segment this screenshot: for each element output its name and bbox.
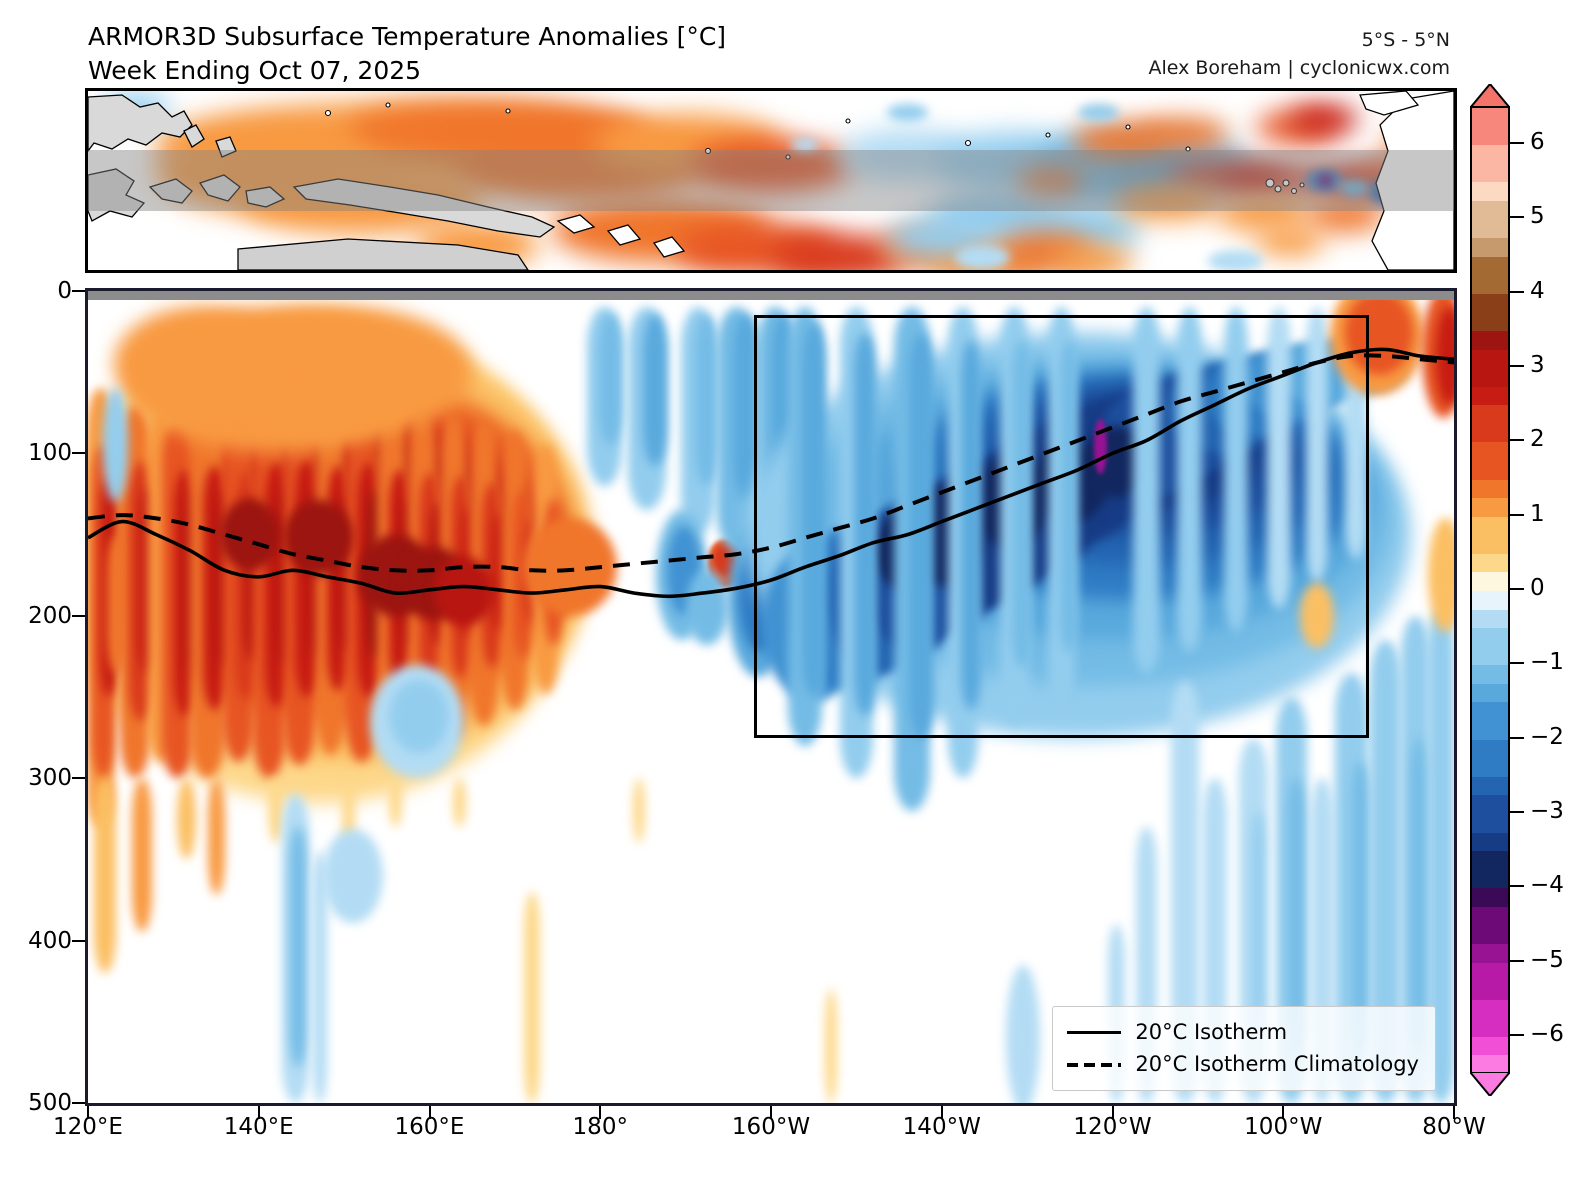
colorbar-segment (1472, 405, 1508, 424)
colorbar-segment (1472, 108, 1508, 127)
author-credit: Alex Boreham | cyclonicwx.com (1148, 54, 1450, 82)
colorbar-tick (1510, 142, 1524, 144)
colorbar-segment (1472, 851, 1508, 870)
colorbar-segment (1472, 870, 1508, 889)
colorbar-segment (1472, 331, 1508, 350)
legend-item: 20°C Isotherm (1067, 1016, 1419, 1048)
colorbar-tick (1510, 811, 1524, 813)
colorbar-tick-label: 1 (1530, 501, 1545, 527)
y-axis-tick (72, 290, 85, 292)
colorbar-segment (1472, 368, 1508, 387)
colorbar-tick-label: −6 (1530, 1021, 1564, 1047)
x-axis-tick-label: 160°E (360, 1114, 500, 1140)
colorbar-tick (1510, 216, 1524, 218)
colorbar-segment (1472, 182, 1508, 201)
colorbar-segment (1472, 981, 1508, 1000)
credit-block: 5°S - 5°N Alex Boreham | cyclonicwx.com (1148, 26, 1450, 82)
colorbar-segment (1472, 387, 1508, 406)
colorbar-segment (1472, 944, 1508, 963)
colorbar-segment (1472, 517, 1508, 536)
colorbar-segment (1472, 758, 1508, 777)
colorbar-tick (1510, 1034, 1524, 1036)
colorbar-gradient (1470, 106, 1510, 1072)
inset-landmass (558, 215, 594, 233)
colorbar-segment (1472, 1000, 1508, 1019)
colorbar-segment (1472, 665, 1508, 684)
inset-island-marker (966, 141, 971, 146)
legend-item-label: 20°C Isotherm (1135, 1020, 1287, 1044)
colorbar-segment (1472, 201, 1508, 220)
colorbar-tick (1510, 291, 1524, 293)
y-axis-tick-label: 500 (0, 1090, 72, 1116)
x-axis-tick-label: 120°E (18, 1114, 158, 1140)
colorbar-tick-label: −3 (1530, 798, 1564, 824)
colorbar-segment (1472, 275, 1508, 294)
inset-latitude-band-shading (88, 150, 1454, 211)
x-axis-tick-label: 140°E (189, 1114, 329, 1140)
x-axis-tick-label: 120°W (1043, 1114, 1183, 1140)
y-axis-tick (72, 940, 85, 942)
colorbar-segment (1472, 814, 1508, 833)
colorbar-tick-label: 4 (1530, 278, 1545, 304)
colorbar-segment (1472, 164, 1508, 183)
title-line-1: ARMOR3D Subsurface Temperature Anomalies… (88, 20, 726, 54)
colorbar-tick-label: −5 (1530, 947, 1564, 973)
colorbar-max-arrow (1470, 84, 1510, 108)
y-axis-tick-label: 200 (0, 603, 72, 629)
colorbar-tick (1510, 365, 1524, 367)
colorbar-tick (1510, 960, 1524, 962)
colorbar-segment (1472, 1037, 1508, 1056)
colorbar-segment (1472, 721, 1508, 740)
colorbar-tick-label: 2 (1530, 426, 1545, 452)
legend-item: 20°C Isotherm Climatology (1067, 1048, 1419, 1080)
inset-landmass (88, 95, 192, 151)
colorbar-segment (1472, 145, 1508, 164)
y-axis-tick (72, 1102, 85, 1104)
inset-landmass (608, 225, 640, 245)
page-title: ARMOR3D Subsurface Temperature Anomalies… (88, 20, 726, 88)
main-cross-section-plot: 20°C Isotherm20°C Isotherm Climatology (85, 288, 1457, 1106)
colorbar-tick (1510, 439, 1524, 441)
colorbar-segment (1472, 610, 1508, 629)
colorbar-min-arrow (1470, 1072, 1510, 1096)
highlight-region-box (754, 315, 1369, 737)
colorbar-segment (1472, 925, 1508, 944)
colorbar-segment (1472, 684, 1508, 703)
legend-line-glyph (1067, 1031, 1121, 1034)
colorbar-segment (1472, 795, 1508, 814)
colorbar-segment (1472, 628, 1508, 647)
colorbar-segment (1472, 294, 1508, 313)
inset-landmass (654, 237, 684, 257)
colorbar-segment (1472, 907, 1508, 926)
x-axis-tick-label: 180° (530, 1114, 670, 1140)
x-axis-tick-label: 80°W (1384, 1114, 1524, 1140)
colorbar-tick (1510, 514, 1524, 516)
y-axis-tick (72, 452, 85, 454)
colorbar-segment (1472, 442, 1508, 461)
colorbar-segment (1472, 554, 1508, 573)
x-axis-tick-label: 160°W (701, 1114, 841, 1140)
colorbar-segment (1472, 535, 1508, 554)
y-axis-tick (72, 777, 85, 779)
colorbar-tick-label: 6 (1530, 129, 1545, 155)
colorbar-segment (1472, 1018, 1508, 1037)
y-axis-tick-label: 300 (0, 765, 72, 791)
colorbar-segment (1472, 777, 1508, 796)
colorbar-tick (1510, 885, 1524, 887)
colorbar-segment (1472, 833, 1508, 852)
colorbar-tick-label: −4 (1530, 872, 1564, 898)
colorbar-segment (1472, 572, 1508, 591)
y-axis-tick-label: 400 (0, 928, 72, 954)
legend-dashed-line-swatch (1067, 1055, 1121, 1073)
colorbar-segment (1472, 424, 1508, 443)
legend: 20°C Isotherm20°C Isotherm Climatology (1052, 1006, 1436, 1091)
inset-island-marker (846, 119, 850, 123)
inset-island-marker (326, 111, 331, 116)
colorbar (1470, 84, 1510, 1094)
title-line-2: Week Ending Oct 07, 2025 (88, 54, 726, 88)
x-axis-tick-label: 140°W (872, 1114, 1012, 1140)
colorbar-segment (1472, 480, 1508, 499)
colorbar-segment (1472, 740, 1508, 759)
colorbar-segment (1472, 461, 1508, 480)
inset-landmass (238, 239, 528, 270)
colorbar-tick (1510, 737, 1524, 739)
colorbar-tick-label: −2 (1530, 724, 1564, 750)
colorbar-segment (1472, 312, 1508, 331)
inset-island-marker (1126, 125, 1130, 129)
y-axis-tick-label: 100 (0, 440, 72, 466)
legend-line-glyph (1067, 1063, 1121, 1067)
colorbar-tick-label: 0 (1530, 575, 1545, 601)
colorbar-segment (1472, 888, 1508, 907)
colorbar-segment (1472, 647, 1508, 666)
colorbar-segment (1472, 219, 1508, 238)
x-axis-tick-label: 100°W (1213, 1114, 1353, 1140)
colorbar-tick (1510, 662, 1524, 664)
y-axis-tick-label: 0 (0, 278, 72, 304)
y-axis-tick (72, 615, 85, 617)
colorbar-segment (1472, 257, 1508, 276)
colorbar-segment (1472, 127, 1508, 146)
colorbar-segment (1472, 591, 1508, 610)
colorbar-tick-label: 3 (1530, 352, 1545, 378)
colorbar-segment (1472, 963, 1508, 982)
legend-item-label: 20°C Isotherm Climatology (1135, 1052, 1419, 1076)
colorbar-segment (1472, 498, 1508, 517)
colorbar-segment (1472, 238, 1508, 257)
inset-sst-map (85, 88, 1457, 273)
colorbar-tick (1510, 588, 1524, 590)
colorbar-segment (1472, 702, 1508, 721)
colorbar-segment (1472, 350, 1508, 369)
inset-island-marker (386, 103, 390, 107)
colorbar-tick-label: 5 (1530, 203, 1545, 229)
legend-solid-line-swatch (1067, 1023, 1121, 1041)
colorbar-tick-label: −1 (1530, 649, 1564, 675)
latitude-band-label: 5°S - 5°N (1148, 26, 1450, 54)
inset-island-marker (506, 109, 510, 113)
inset-island-marker (1046, 133, 1050, 137)
